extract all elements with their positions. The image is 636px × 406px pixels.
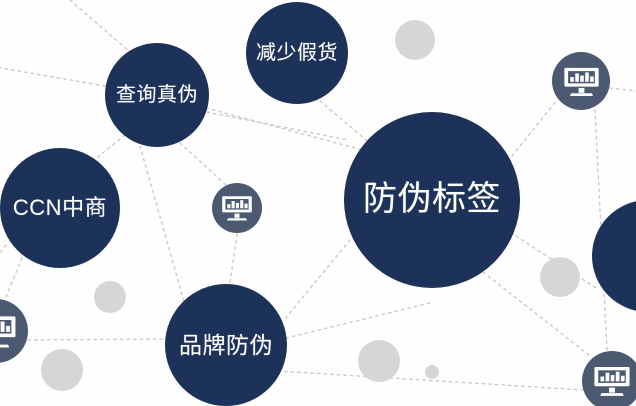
decor-circle bbox=[358, 340, 400, 382]
monitor-chart-icon bbox=[221, 192, 253, 224]
decor-circle bbox=[94, 281, 126, 313]
link-reducefake-center bbox=[320, 101, 372, 145]
link-query-leftedge bbox=[0, 66, 105, 86]
decor-circle bbox=[540, 257, 580, 297]
node-label: CCN中商 bbox=[13, 196, 107, 219]
decor-circle bbox=[395, 20, 435, 60]
node-chaxun-zhenwei[interactable]: 查询真伪 bbox=[105, 43, 209, 147]
diagram-canvas: 防伪标签 查询真伪 减少假货 CCN中商 品牌防伪 bbox=[0, 0, 636, 406]
monitor-chart-icon bbox=[563, 63, 600, 100]
link-monitor-tr-rightout bbox=[610, 88, 636, 92]
monitor-chart-icon bbox=[0, 311, 17, 352]
link-ccn-monitorleft bbox=[4, 258, 22, 302]
link-query-reducefake bbox=[207, 112, 348, 140]
node-right-edge[interactable] bbox=[592, 200, 636, 312]
link-query-monitor bbox=[180, 143, 226, 185]
link-ccn-leftout bbox=[0, 245, 6, 268]
node-label: 查询真伪 bbox=[116, 85, 198, 106]
node-fangwei-biaoqian[interactable]: 防伪标签 bbox=[344, 112, 520, 288]
node-jianshao-jiahuo[interactable]: 减少假货 bbox=[246, 2, 348, 104]
link-monitor-center-brand bbox=[230, 234, 237, 283]
decor-circle bbox=[41, 349, 83, 391]
link-monitorleft-brand bbox=[28, 339, 167, 340]
link-query-brand bbox=[140, 146, 185, 305]
node-ccn-zhongshang[interactable]: CCN中商 bbox=[0, 148, 120, 268]
monitor-chart-node[interactable] bbox=[582, 351, 636, 406]
link-brand-rightlower bbox=[286, 303, 430, 338]
monitor-chart-node[interactable] bbox=[212, 183, 262, 233]
link-topleft-query bbox=[70, 0, 130, 52]
node-label: 品牌防伪 bbox=[179, 333, 273, 357]
node-label: 防伪标签 bbox=[363, 182, 501, 218]
decor-circle bbox=[425, 365, 439, 379]
link-center-brand bbox=[284, 240, 350, 320]
node-pinpai-fangwei[interactable]: 品牌防伪 bbox=[165, 284, 287, 406]
monitor-chart-icon bbox=[593, 362, 631, 400]
monitor-chart-node[interactable] bbox=[0, 299, 28, 363]
link-center-monitor-tr bbox=[508, 100, 557, 161]
node-label: 减少假货 bbox=[256, 43, 338, 64]
monitor-chart-node[interactable] bbox=[552, 52, 610, 110]
